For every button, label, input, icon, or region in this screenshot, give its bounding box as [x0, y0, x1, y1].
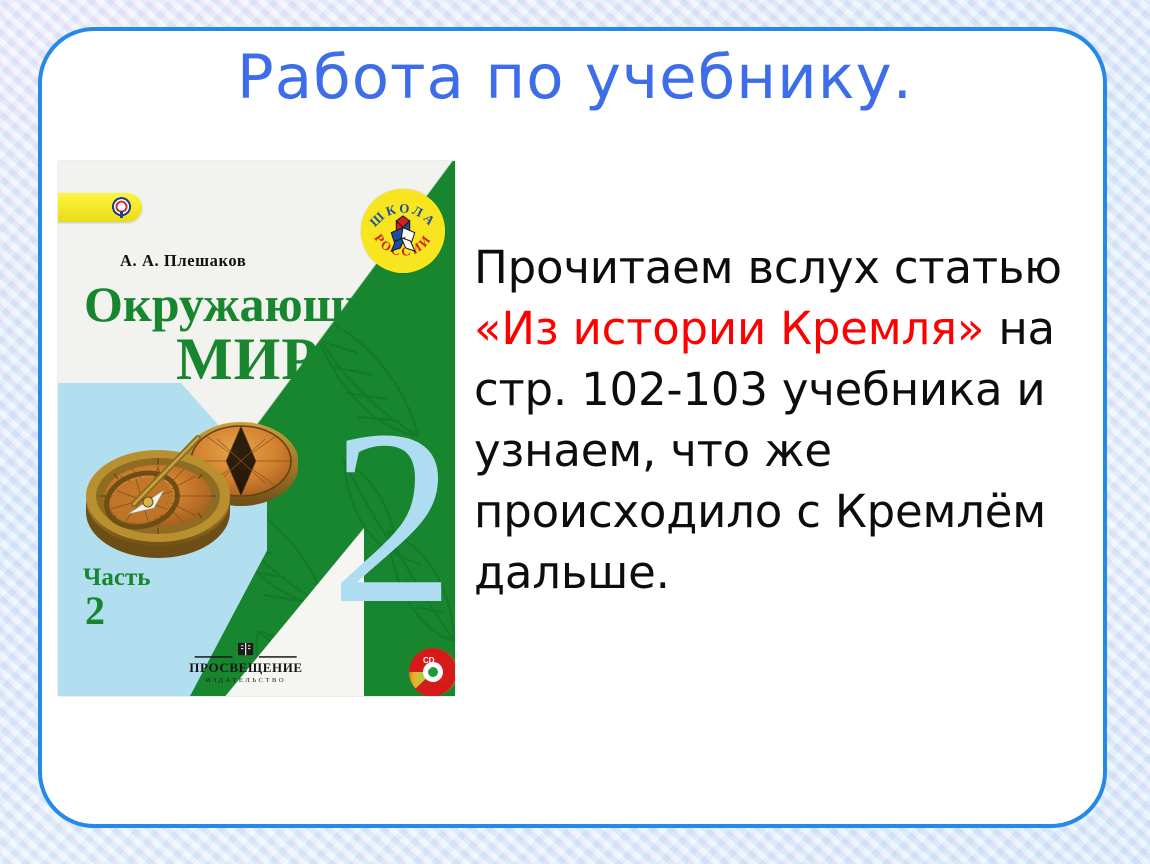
cd-badge-icon: CD +	[409, 648, 455, 696]
textbook-cover-image: ШКОЛА РОССИИ А. А. Плешаков Окружающий М…	[58, 161, 455, 696]
cover-part-word: Часть	[83, 564, 150, 591]
lesson-instruction-text: Прочитаем вслух статью «Из истории Кремл…	[474, 237, 1074, 603]
instruction-segment-1: Прочитаем вслух статью	[474, 241, 1062, 294]
sundial-compass-illustration	[76, 408, 298, 558]
slide-canvas: Работа по учебнику.	[0, 0, 1150, 864]
cover-part-label: Часть 2	[83, 565, 150, 631]
publisher-block: ПРОСВЕЩЕНИЕ ИЗДАТЕЛЬСТВО	[166, 642, 326, 684]
cover-title-line1: Окружающий	[84, 279, 402, 329]
svg-text:+: +	[425, 664, 431, 675]
publisher-logo-icon	[166, 642, 326, 659]
fgos-emblem-icon	[111, 197, 132, 218]
shkola-rossii-badge: ШКОЛА РОССИИ	[361, 189, 445, 273]
cover-title-line2: МИР	[176, 329, 319, 389]
cover-part-number: 2	[85, 591, 150, 631]
article-title-highlight: «Из истории Кремля»	[474, 302, 984, 355]
page-title: Работа по учебнику.	[0, 42, 1150, 113]
fgos-tab	[58, 193, 142, 222]
cover-grade-number: 2	[330, 393, 449, 643]
publisher-subtitle: ИЗДАТЕЛЬСТВО	[166, 677, 326, 684]
cover-author: А. А. Плешаков	[120, 251, 246, 271]
publisher-name: ПРОСВЕЩЕНИЕ	[166, 660, 326, 676]
